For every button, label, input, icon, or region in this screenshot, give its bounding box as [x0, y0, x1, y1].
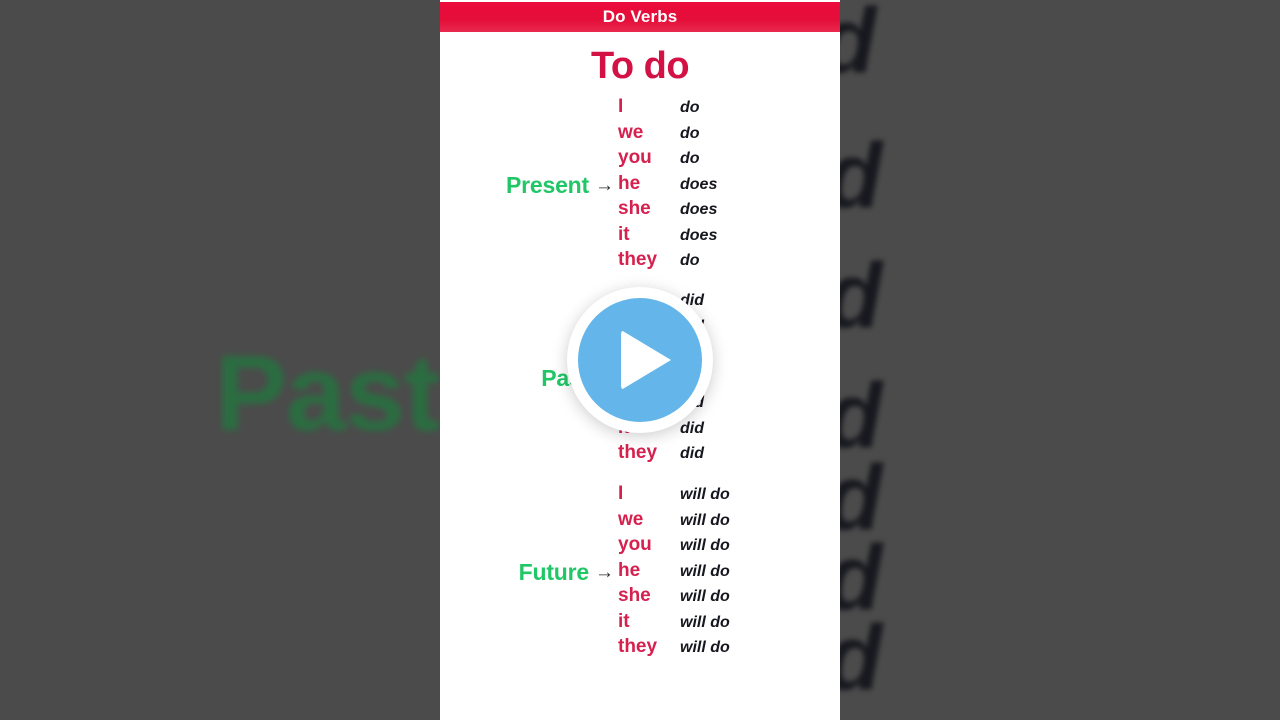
verb-form: do — [680, 150, 700, 168]
conjugation-row: they do — [618, 249, 717, 275]
verb-form: does — [680, 227, 717, 245]
play-button[interactable] — [567, 287, 713, 433]
conjugation-row: she does — [618, 198, 717, 224]
verb-form: will do — [680, 512, 730, 530]
arrow-right-icon: → — [595, 176, 614, 195]
verb-form: will do — [680, 563, 730, 581]
pronoun: we — [618, 122, 680, 144]
verb-form: will do — [680, 486, 730, 504]
arrow-right-icon: → — [595, 563, 614, 582]
verb-form: do — [680, 125, 700, 143]
conjugation-row: he does — [618, 173, 717, 199]
conjugation-row: we do — [618, 122, 717, 148]
verb-form: do — [680, 99, 700, 117]
tense-label-present: Present — [506, 172, 589, 199]
pronoun: she — [618, 198, 680, 220]
play-icon — [621, 330, 671, 390]
page-title: To do — [440, 45, 840, 88]
conjugation-rows-present: I do we do you do he does she does — [618, 96, 717, 275]
pronoun: it — [618, 224, 680, 246]
verb-form: does — [680, 176, 717, 194]
backdrop-past-text: Past — [215, 330, 439, 455]
video-player-stage: Past d d d d d d d Do Verbs To do Presen… — [0, 0, 1280, 720]
pronoun: they — [618, 636, 680, 658]
tense-label-wrap-future: Future → — [440, 559, 618, 586]
pronoun: she — [618, 585, 680, 607]
pronoun: I — [618, 96, 680, 118]
conjugation-row: you will do — [618, 534, 730, 560]
conjugation-row: they did — [618, 442, 704, 468]
pronoun: it — [618, 611, 680, 633]
pronoun: we — [618, 509, 680, 531]
conjugation-row: I do — [618, 96, 717, 122]
verb-form: will do — [680, 537, 730, 555]
verb-form: will do — [680, 614, 730, 632]
conjugation-row: it does — [618, 224, 717, 250]
conjugation-row: you do — [618, 147, 717, 173]
pronoun: you — [618, 534, 680, 556]
pronoun: I — [618, 483, 680, 505]
conjugation-row: he will do — [618, 560, 730, 586]
verb-form: do — [680, 252, 700, 270]
tense-block-future: Future → I will do we will do you will d… — [440, 483, 840, 662]
play-button-inner[interactable] — [578, 298, 702, 422]
header-banner: Do Verbs — [440, 2, 840, 32]
verb-form: will do — [680, 639, 730, 657]
pronoun: they — [618, 442, 680, 464]
tense-block-present: Present → I do we do you do he does — [440, 96, 840, 275]
verb-form: did — [680, 420, 704, 438]
verb-form: did — [680, 445, 704, 463]
tense-label-wrap-present: Present → — [440, 172, 618, 199]
tense-label-future: Future — [519, 559, 589, 586]
pronoun: he — [618, 560, 680, 582]
conjugation-row: she will do — [618, 585, 730, 611]
conjugation-row: we will do — [618, 509, 730, 535]
conjugation-row: I will do — [618, 483, 730, 509]
pronoun: they — [618, 249, 680, 271]
conjugation-row: they will do — [618, 636, 730, 662]
conjugation-rows-future: I will do we will do you will do he will… — [618, 483, 730, 662]
pronoun: you — [618, 147, 680, 169]
verb-form: will do — [680, 588, 730, 606]
conjugation-row: it will do — [618, 611, 730, 637]
pronoun: he — [618, 173, 680, 195]
verb-form: does — [680, 201, 717, 219]
banner-title: Do Verbs — [603, 7, 678, 27]
